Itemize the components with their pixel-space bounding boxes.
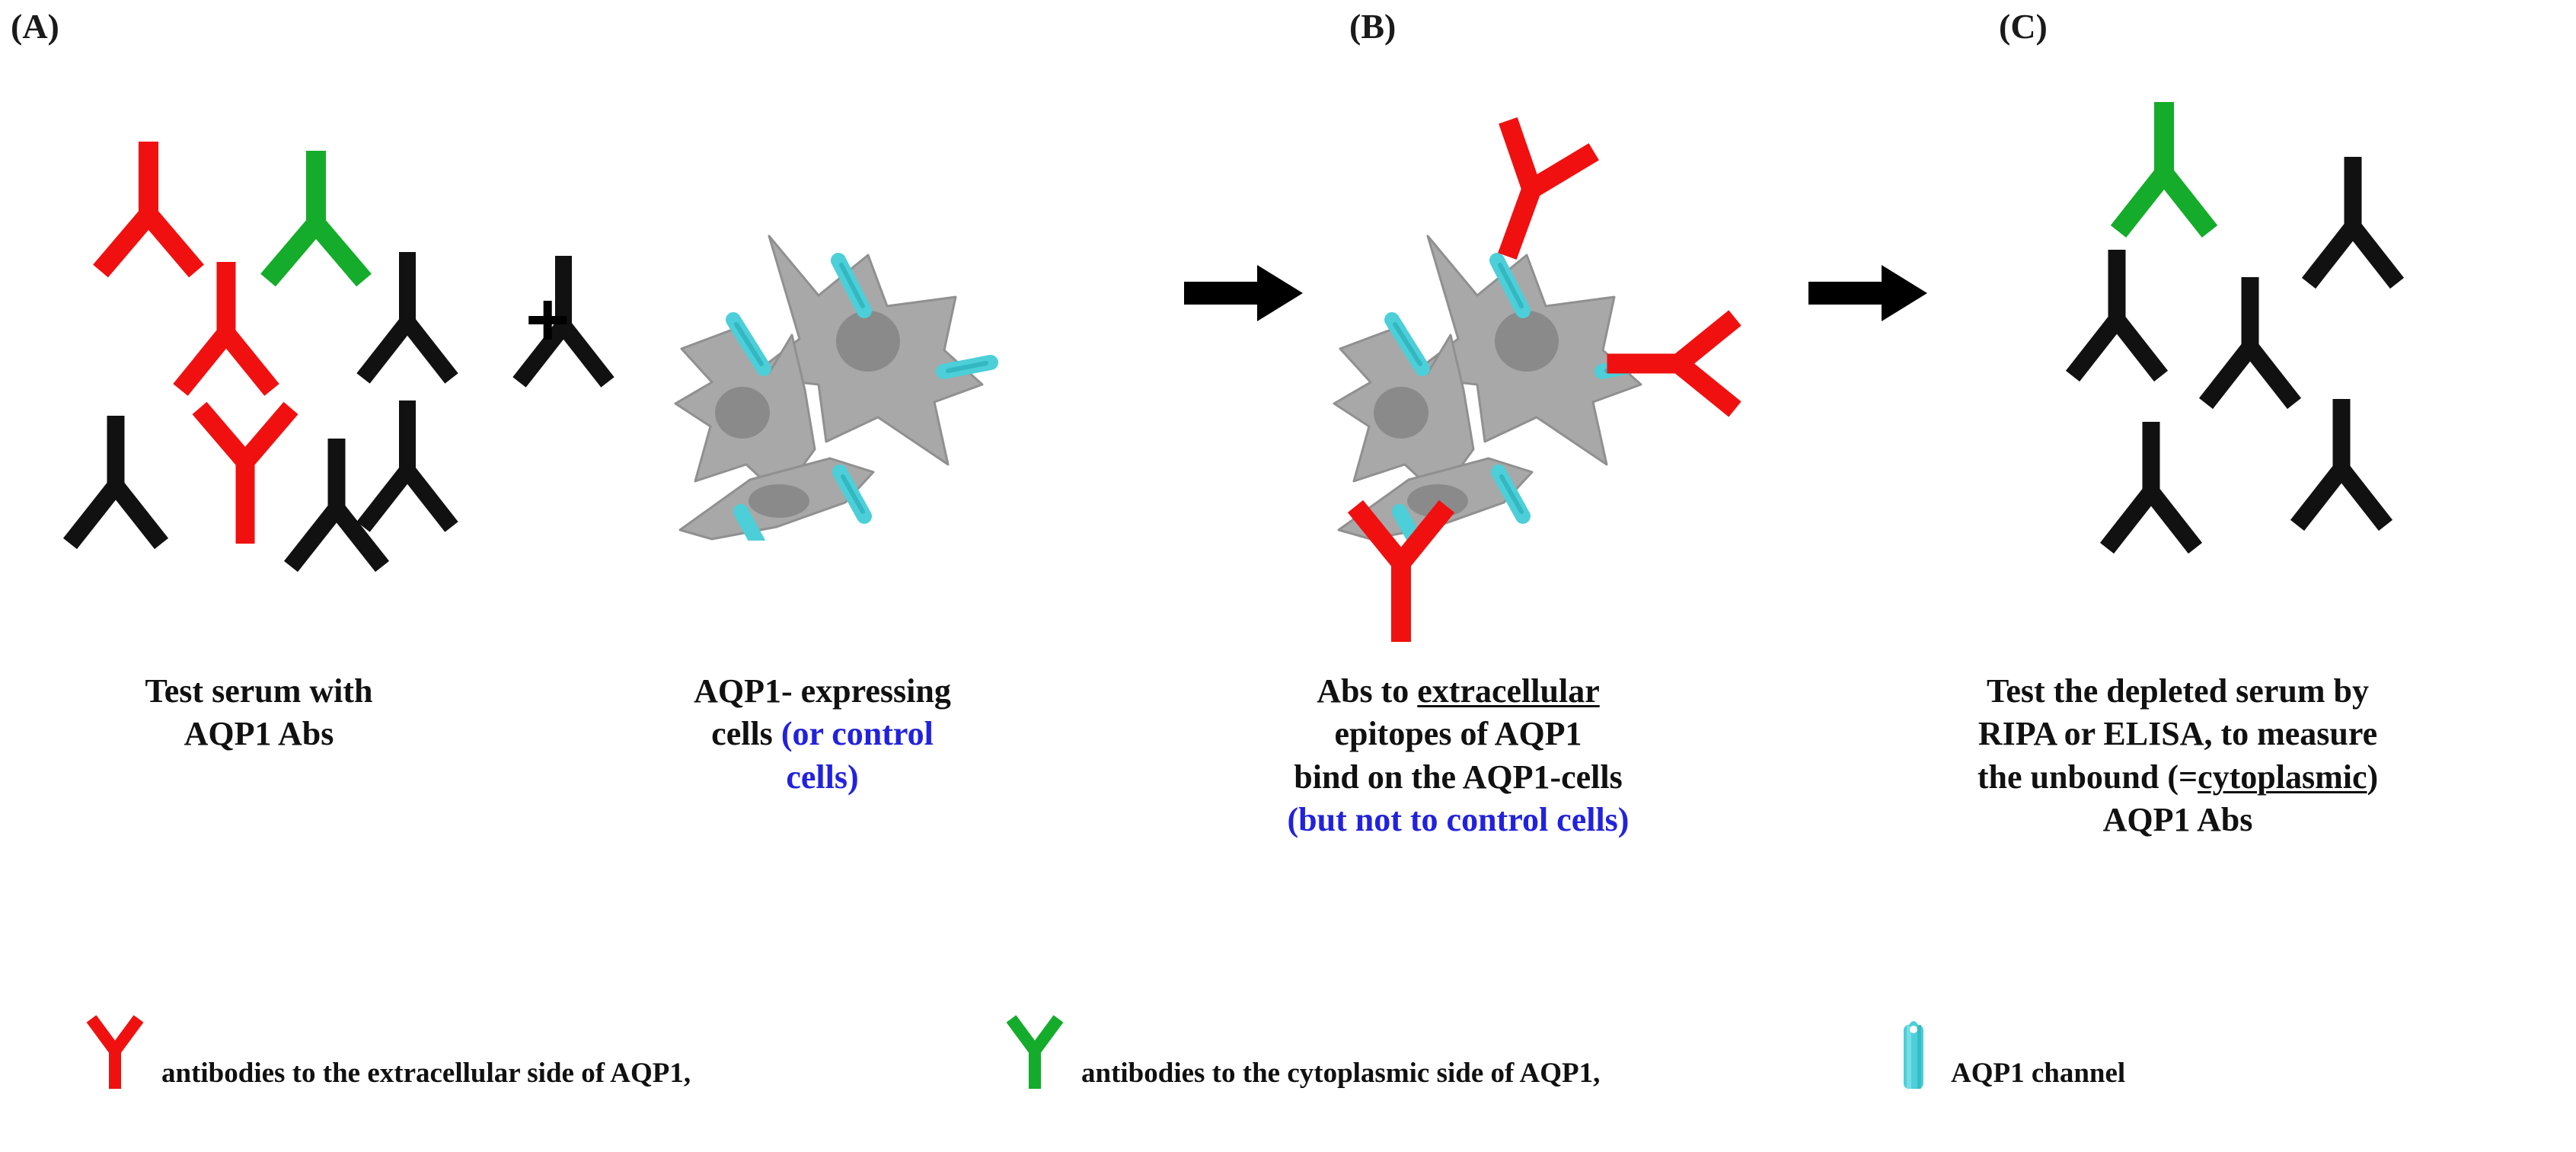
figure-canvas: (A) (B) (C)	[0, 0, 2576, 1152]
caption-seg-underline: extracellular	[1417, 672, 1599, 710]
aqp1-channel-icon	[1896, 1013, 1931, 1096]
caption-panel-c: Test the depleted serum by RIPA or ELISA…	[1847, 670, 2509, 841]
caption-seg: cells	[711, 715, 781, 752]
caption-line: AQP1 Abs	[1847, 799, 2509, 841]
antibody-red-bound-2	[1601, 303, 1750, 425]
caption-line: AQP1- expressing	[579, 670, 1066, 713]
antibody-red-icon	[85, 1013, 145, 1096]
antibody-black-c4	[2090, 417, 2212, 562]
antibody-green-icon	[1005, 1013, 1065, 1096]
panel-label-b: (B)	[1349, 6, 1396, 46]
panel-label-c: (C)	[1999, 6, 2048, 46]
antibody-red-2	[164, 257, 289, 406]
antibody-black-c2	[2056, 245, 2178, 390]
caption-seg-blue: (or control	[781, 715, 934, 752]
caption-line: Test serum with	[15, 670, 503, 713]
caption-seg: the unbound (=	[1977, 758, 2198, 796]
caption-panel-a: Test serum with AQP1 Abs	[15, 670, 503, 756]
antibody-red-bound-3	[1340, 499, 1462, 651]
arrow-a-to-b	[1184, 259, 1306, 331]
caption-line: cells)	[579, 756, 1066, 799]
caption-line: AQP1 Abs	[15, 713, 503, 755]
legend-item-aqp1-channel: AQP1 channel	[1896, 1013, 2125, 1096]
caption-line: (but not to control cells)	[1142, 799, 1774, 841]
antibody-black-4	[53, 411, 179, 560]
legend-label-cytoplasmic: antibodies to the cytoplasmic side of AQ…	[1081, 1057, 1600, 1090]
antibody-black-5	[274, 434, 400, 582]
caption-cells: AQP1- expressing cells (or control cells…	[579, 670, 1066, 799]
legend-item-extracellular: antibodies to the extracellular side of …	[85, 1013, 691, 1096]
caption-seg: Abs to	[1317, 672, 1417, 710]
legend-label-extracellular: antibodies to the extracellular side of …	[161, 1057, 691, 1090]
caption-seg-underline: cytoplasmic	[2198, 758, 2367, 796]
caption-line: cells (or control	[579, 713, 1066, 755]
caption-panel-b: Abs to extracellular epitopes of AQP1 bi…	[1142, 670, 1774, 841]
antibody-black-1	[346, 247, 468, 392]
caption-line: the unbound (=cytoplasmic)	[1847, 756, 2509, 799]
caption-line: bind on the AQP1-cells	[1142, 756, 1774, 799]
antibody-black-c5	[2281, 394, 2402, 539]
arrow-b-to-c	[1808, 259, 1930, 331]
legend-item-cytoplasmic: antibodies to the cytoplasmic side of AQ…	[1005, 1013, 1600, 1096]
caption-line: epitopes of AQP1	[1142, 713, 1774, 755]
legend-label-aqp1-channel: AQP1 channel	[1951, 1057, 2125, 1090]
aqp1-expressing-cell-group	[636, 213, 1123, 544]
plus-operator: +	[525, 282, 570, 358]
caption-line: Test the depleted serum by	[1847, 670, 2509, 713]
caption-seg: )	[2367, 758, 2378, 796]
caption-line: RIPA or ELISA, to measure	[1847, 713, 2509, 755]
antibody-green-c1	[2102, 97, 2227, 246]
caption-line: Abs to extracellular	[1142, 670, 1774, 713]
panel-label-a: (A)	[11, 6, 59, 46]
